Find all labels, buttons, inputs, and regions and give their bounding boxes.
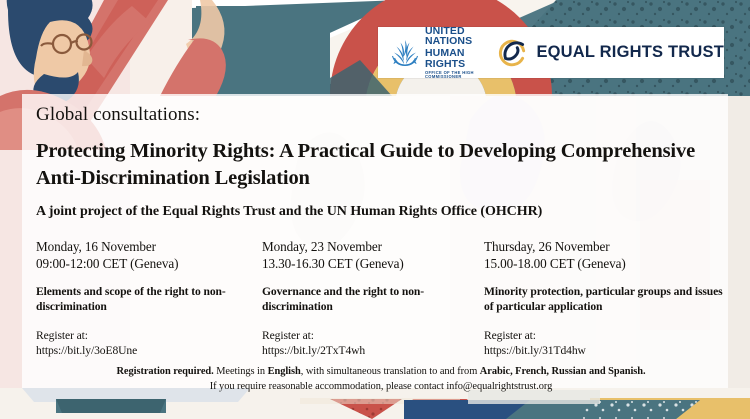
session-register-link[interactable]: https://bit.ly/3oE8Une xyxy=(36,343,262,358)
footnote: Registration required. Meetings in Engli… xyxy=(36,364,726,394)
session-time: 13.30-16.30 CET (Geneva) xyxy=(262,256,484,273)
session-datetime: Monday, 16 November 09:00-12:00 CET (Gen… xyxy=(36,239,262,273)
page-title: Protecting Minority Rights: A Practical … xyxy=(36,138,726,192)
session-item: Thursday, 26 November 15.00-18.00 CET (G… xyxy=(484,239,726,358)
footnote-line2: If you require reasonable accommodation,… xyxy=(36,379,726,394)
footnote-english: English xyxy=(268,366,301,377)
sessions-list: Monday, 16 November 09:00-12:00 CET (Gen… xyxy=(36,239,726,358)
session-register-link[interactable]: https://bit.ly/31Td4hw xyxy=(484,343,726,358)
session-datetime: Thursday, 26 November 15.00-18.00 CET (G… xyxy=(484,239,726,273)
footnote-line1: Registration required. Meetings in Engli… xyxy=(36,364,726,379)
un-logo-wordmark: UNITED NATIONS HUMAN RIGHTS OFFICE OF TH… xyxy=(425,26,479,80)
un-human-rights-logo: UNITED NATIONS HUMAN RIGHTS OFFICE OF TH… xyxy=(390,26,479,80)
session-date: Thursday, 26 November xyxy=(484,239,726,256)
session-register-label: Register at: xyxy=(36,328,262,343)
session-time: 15.00-18.00 CET (Geneva) xyxy=(484,256,726,273)
poster-canvas: UNITED NATIONS HUMAN RIGHTS OFFICE OF TH… xyxy=(0,0,750,419)
session-register-label: Register at: xyxy=(262,328,484,343)
page-subtitle: A joint project of the Equal Rights Trus… xyxy=(36,204,542,220)
session-item: Monday, 23 November 13.30-16.30 CET (Gen… xyxy=(262,239,484,358)
equal-rights-trust-wordmark: EQUAL RIGHTS TRUST xyxy=(536,43,724,62)
session-date: Monday, 23 November xyxy=(262,239,484,256)
un-logo-line1: UNITED NATIONS xyxy=(425,26,479,47)
session-topic: Minority protection, particular groups a… xyxy=(484,284,726,314)
session-register-link[interactable]: https://bit.ly/2TxT4wh xyxy=(262,343,484,358)
equal-rights-trust-e-mark-icon xyxy=(497,37,529,69)
session-topic: Governance and the right to non-discrimi… xyxy=(262,284,484,314)
equal-rights-trust-logo: EQUAL RIGHTS TRUST xyxy=(497,37,724,69)
footnote-lead: Registration required. xyxy=(116,366,213,377)
session-date: Monday, 16 November xyxy=(36,239,262,256)
kicker-text: Global consultations: xyxy=(36,104,200,126)
session-topic: Elements and scope of the right to non-d… xyxy=(36,284,262,314)
footnote-languages: Arabic, French, Russian and Spanish. xyxy=(480,366,646,377)
footnote-mid2: , with simultaneous translation to and f… xyxy=(301,366,480,377)
session-time: 09:00-12:00 CET (Geneva) xyxy=(36,256,262,273)
content-panel: Global consultations: Protecting Minorit… xyxy=(22,94,728,388)
session-register-label: Register at: xyxy=(484,328,726,343)
footnote-mid1: Meetings in xyxy=(214,366,268,377)
logo-bar: UNITED NATIONS HUMAN RIGHTS OFFICE OF TH… xyxy=(378,27,724,78)
un-human-rights-emblem-icon xyxy=(390,38,420,68)
un-logo-line2: HUMAN RIGHTS xyxy=(425,48,479,69)
session-item: Monday, 16 November 09:00-12:00 CET (Gen… xyxy=(36,239,262,358)
un-logo-line3: OFFICE OF THE HIGH COMMISSIONER xyxy=(425,71,479,79)
session-datetime: Monday, 23 November 13.30-16.30 CET (Gen… xyxy=(262,239,484,273)
